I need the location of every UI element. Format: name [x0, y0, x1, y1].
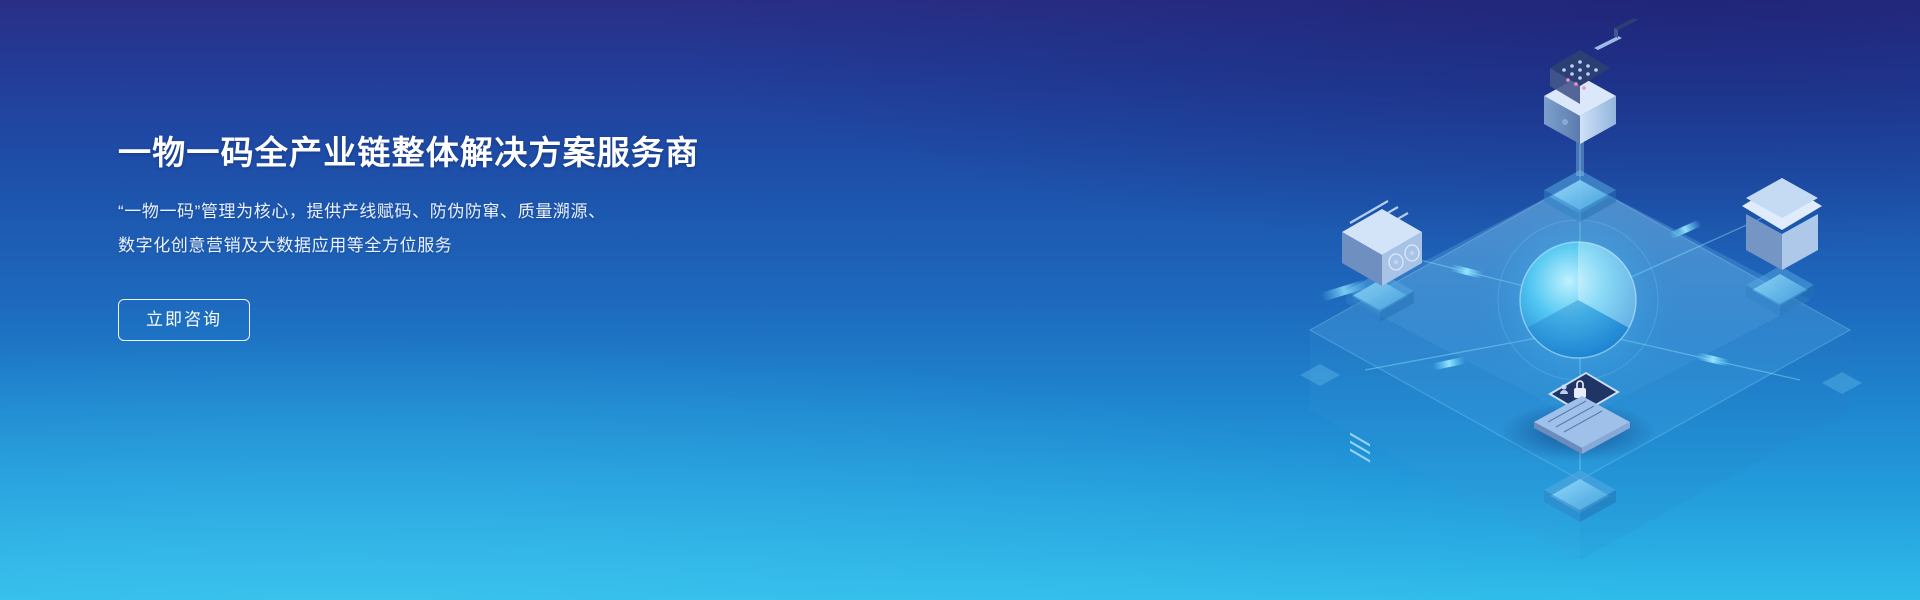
hero-subtitle-line-2: 数字化创意营销及大数据应用等全方位服务 — [118, 229, 838, 263]
hero-subtitle: “一物一码”管理为核心，提供产线赋码、防伪防窜、质量溯源、 数字化创意营销及大数… — [118, 195, 838, 263]
isometric-iot-network-illustration — [1020, 0, 1920, 600]
hero-subtitle-line-1: “一物一码”管理为核心，提供产线赋码、防伪防窜、质量溯源、 — [118, 195, 838, 229]
page-title: 一物一码全产业链整体解决方案服务商 — [118, 132, 838, 173]
hero-banner: 一物一码全产业链整体解决方案服务商 “一物一码”管理为核心，提供产线赋码、防伪防… — [0, 0, 1920, 600]
consult-now-button[interactable]: 立即咨询 — [118, 299, 250, 341]
cash-register-node — [1544, 0, 1638, 222]
hero-copy-block: 一物一码全产业链整体解决方案服务商 “一物一码”管理为核心，提供产线赋码、防伪防… — [118, 132, 838, 341]
